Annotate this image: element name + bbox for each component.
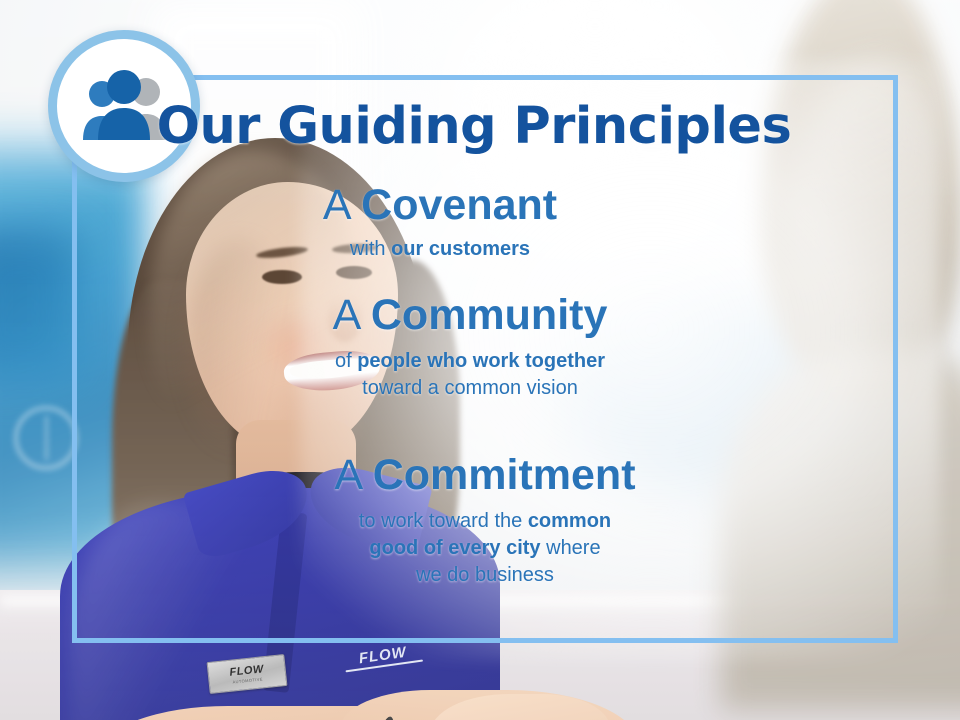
principle-commitment-sub-regular-2: where — [541, 537, 601, 559]
principle-commitment-sub-line-3: we do business — [72, 562, 898, 589]
principle-covenant-headline: A Covenant — [72, 183, 808, 228]
principle-commitment-article: A — [334, 451, 372, 499]
principle-covenant-article: A — [323, 181, 361, 229]
principle-commitment: A Commitment to work toward the common g… — [72, 453, 898, 589]
principle-community-sub-bold: people who work together — [357, 350, 605, 372]
principle-commitment-sub-regular-1: to work toward the — [359, 510, 528, 532]
principle-commitment-sub-line-2: good of every city where — [72, 535, 898, 562]
principle-covenant-keyword: Covenant — [361, 181, 557, 229]
principle-commitment-headline: A Commitment — [72, 453, 898, 498]
principle-covenant-sub: with our customers — [72, 236, 808, 263]
poster-copy: Our Guiding Principles A Covenant with o… — [72, 75, 898, 643]
principle-commitment-sub-bold-2: good of every city — [369, 537, 540, 559]
principle-community-article: A — [333, 291, 371, 339]
principle-covenant: A Covenant with our customers — [72, 183, 808, 263]
principle-commitment-sub-line-1: to work toward the common — [72, 508, 898, 535]
page-title: Our Guiding Principles — [72, 97, 876, 156]
principle-community: A Community of people who work together … — [72, 293, 868, 402]
principle-community-sub: of people who work together toward a com… — [72, 348, 868, 402]
principle-commitment-sub-bold-1: common — [528, 510, 611, 532]
principle-community-headline: A Community — [72, 293, 868, 338]
principle-commitment-sub: to work toward the common good of every … — [72, 508, 898, 589]
principle-commitment-keyword: Commitment — [373, 451, 636, 499]
principle-community-sub-line-2: toward a common vision — [72, 375, 868, 402]
principle-covenant-sub-bold: our customers — [391, 238, 530, 260]
principle-covenant-sub-regular: with — [350, 238, 391, 260]
guiding-principles-poster: FLOW AUTOMOTIVE FLOW — [0, 0, 960, 720]
principle-community-keyword: Community — [371, 291, 608, 339]
principle-community-sub-line-1: of people who work together — [72, 348, 868, 375]
principle-community-sub-regular: of — [335, 350, 357, 372]
